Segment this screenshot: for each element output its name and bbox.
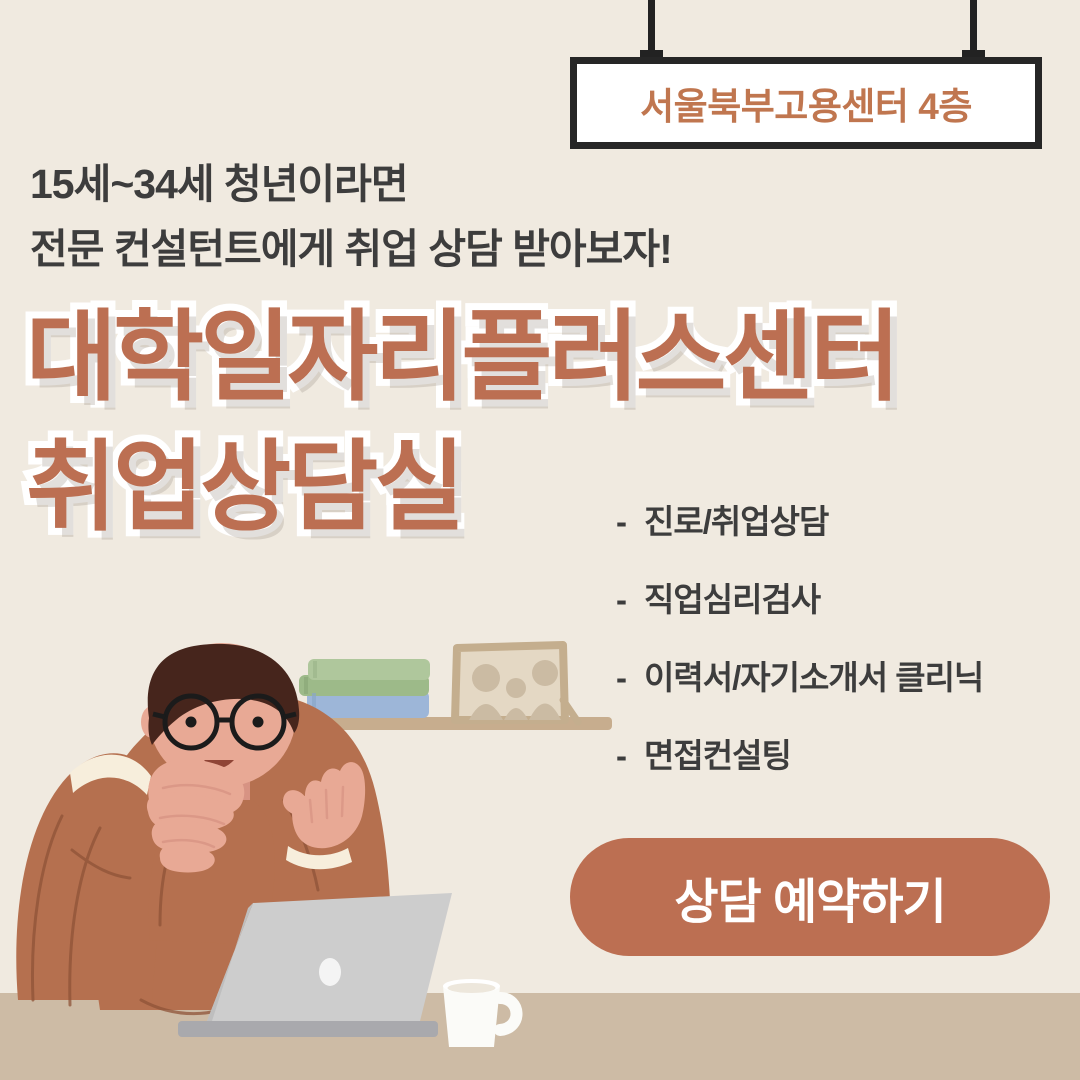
- sweater-body: [90, 693, 392, 1010]
- poster-canvas: 서울북부고용센터 4층 15세~34세 청년이라면 전문 컨설턴트에게 취업 상…: [0, 0, 1080, 1080]
- list-item: - 이력서/자기소개서 클리닉: [616, 651, 1076, 729]
- laptop-lid: [207, 893, 452, 1021]
- head: [148, 643, 296, 787]
- hair: [148, 644, 299, 745]
- headline-line-1: 대학일자리플러스센터: [26, 292, 1066, 422]
- desk-surface: [0, 993, 1080, 1080]
- sign-board: 서울북부고용센터 4층: [570, 57, 1042, 149]
- bullet-dash-icon: -: [616, 581, 644, 619]
- subtitle-line-1: 15세~34세 청년이라면: [30, 152, 850, 217]
- subtitle-line-2: 전문 컨설턴트에게 취업 상담 받아보자!: [30, 217, 850, 282]
- laptop-logo: [319, 958, 341, 986]
- left-sleeve: [16, 753, 161, 1000]
- reserve-consultation-button[interactable]: 상담 예약하기: [570, 838, 1050, 956]
- list-item: - 진로/취업상담: [616, 495, 1076, 573]
- left-eye: [186, 717, 197, 728]
- laptop-base: [178, 1021, 438, 1037]
- service-label: 직업심리검사: [644, 573, 820, 621]
- bullet-dash-icon: -: [616, 503, 644, 541]
- mug-handle: [500, 998, 517, 1030]
- mouth: [204, 760, 234, 768]
- right-arm-sleeve: [149, 789, 275, 945]
- service-label: 면접컨설팅: [644, 729, 791, 777]
- sign-location-text: 서울북부고용센터 4층: [640, 76, 972, 130]
- book-middle: [299, 675, 429, 696]
- left-cuff: [70, 755, 151, 795]
- list-item: - 직업심리검사: [616, 573, 1076, 651]
- ear: [141, 706, 163, 738]
- glasses: [153, 696, 296, 748]
- service-label: 진로/취업상담: [644, 495, 828, 543]
- service-label: 이력서/자기소개서 클리닉: [644, 651, 983, 699]
- neck: [196, 770, 250, 800]
- person-illustration: [16, 643, 400, 1014]
- book-bottom: [307, 691, 429, 718]
- raised-hand: [283, 762, 365, 869]
- mug-rim: [443, 979, 500, 993]
- picture-frame: [455, 645, 578, 722]
- chin-hand: [147, 759, 244, 872]
- coffee-mug: [443, 979, 517, 1047]
- list-item: - 면접컨설팅: [616, 729, 1076, 807]
- mug-body: [443, 986, 500, 1047]
- laptop: [178, 893, 452, 1037]
- right-eye: [253, 717, 264, 728]
- wall-shelf: [242, 717, 612, 730]
- services-list: - 진로/취업상담 - 직업심리검사 - 이력서/자기소개서 클리닉 - 면접컨…: [616, 495, 1076, 807]
- subtitle-block: 15세~34세 청년이라면 전문 컨설턴트에게 취업 상담 받아보자!: [30, 152, 850, 282]
- hanging-sign: 서울북부고용센터 4층: [570, 0, 1042, 152]
- book-top: [308, 659, 430, 680]
- bullet-dash-icon: -: [616, 737, 644, 775]
- bullet-dash-icon: -: [616, 659, 644, 697]
- cta-button-label: 상담 예약하기: [674, 862, 945, 932]
- book-stack: [299, 659, 430, 718]
